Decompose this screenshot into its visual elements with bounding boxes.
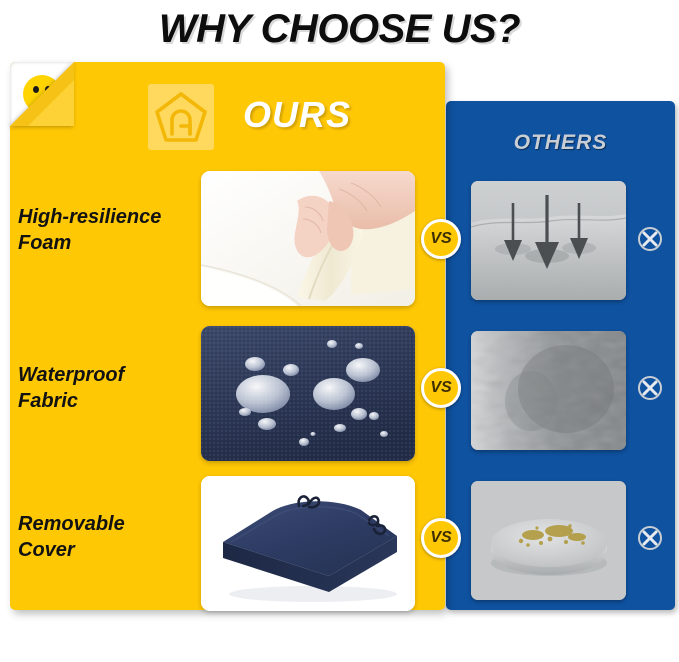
circle-x-icon [637,226,663,252]
navy-seat-cushion-icon [201,476,415,611]
ours-image-waterproof-fabric [201,326,415,461]
circle-x-icon [637,525,663,551]
gray-soaked-fabric-icon [471,331,626,450]
others-heading: OTHERS [446,131,675,155]
feature-label-waterproof-fabric: Waterproof Fabric [18,363,196,414]
house-pentagon-glyph-icon [148,84,214,150]
page-fold-highlight [28,80,74,126]
hand-pinching-foam-icon [201,171,415,306]
vs-badge-removable-cover: VS [421,518,461,558]
circle-x-icon-waterproof-fabric [637,375,663,401]
others-image-waterproof-fabric [471,331,626,450]
gray-foam-sinking-arrows-icon [471,181,626,300]
page-title: WHY CHOOSE US? [0,0,679,58]
others-image-high-resilience-foam [471,181,626,300]
waterproof-fabric-droplets-icon [201,326,415,461]
feature-label-high-resilience-foam: High-resilience Foam [18,205,196,256]
others-image-removable-cover [471,481,626,600]
vs-badge-high-resilience-foam: VS [421,219,461,259]
ours-heading: OURS [243,94,351,136]
circle-x-icon [637,375,663,401]
feature-label-removable-cover: Removable Cover [18,512,196,563]
vs-badge-waterproof-fabric: VS [421,368,461,408]
circle-x-icon-removable-cover [637,525,663,551]
gray-stained-round-cushion-icon [471,481,626,600]
ours-image-high-resilience-foam [201,171,415,306]
house-pentagon-logo-icon [148,84,214,150]
ours-image-removable-cover [201,476,415,611]
circle-x-icon-high-resilience-foam [637,226,663,252]
